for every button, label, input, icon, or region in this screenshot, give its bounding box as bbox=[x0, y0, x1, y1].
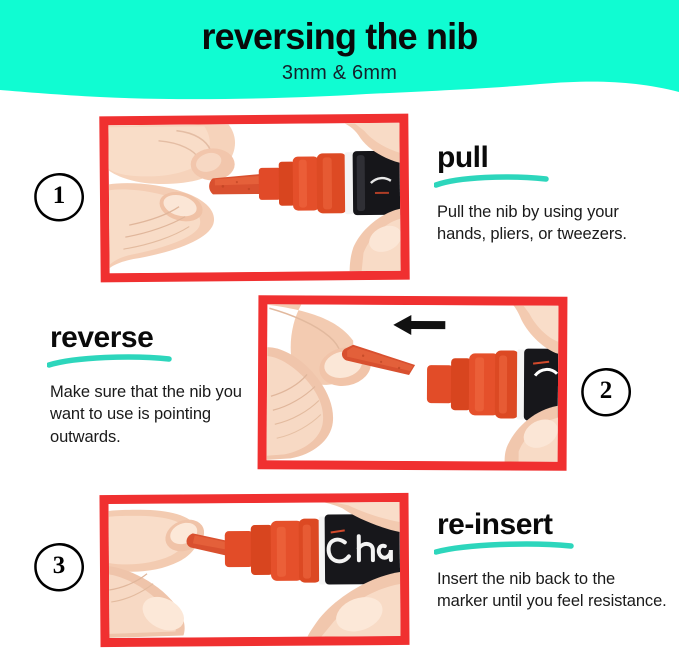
step-number-label-3: 3 bbox=[31, 539, 87, 595]
step-number-badge-3: 3 bbox=[31, 539, 87, 595]
step-heading-2: reverse bbox=[50, 323, 275, 353]
step-text-3: re-insert Insert the nib back to the mar… bbox=[437, 510, 667, 613]
step-number-badge-2: 2 bbox=[578, 364, 634, 420]
step-body-2: Make sure that the nib you want to use i… bbox=[50, 368, 275, 448]
underline-swoosh-icon-2 bbox=[47, 354, 172, 368]
page-title: reversing the nib bbox=[10, 0, 669, 57]
step-number-badge-1: 1 bbox=[31, 169, 87, 225]
step-photo-1 bbox=[99, 114, 409, 283]
underline-swoosh-icon-1 bbox=[434, 174, 549, 188]
step-photo-3 bbox=[99, 493, 409, 647]
photo-illustration-pull bbox=[108, 123, 400, 274]
step-photo-2 bbox=[258, 295, 568, 471]
underline-swoosh-icon-3 bbox=[434, 541, 574, 555]
photo-illustration-reverse bbox=[267, 304, 559, 462]
step-text-1: pull Pull the nib by using your hands, p… bbox=[437, 143, 662, 246]
step-heading-3: re-insert bbox=[437, 510, 667, 540]
step-heading-1: pull bbox=[437, 143, 662, 173]
step-body-3: Insert the nib back to the marker until … bbox=[437, 555, 667, 613]
step-number-label-2: 2 bbox=[578, 364, 634, 420]
header-banner: reversing the nib 3mm & 6mm bbox=[0, 0, 679, 112]
step-body-1: Pull the nib by using your hands, pliers… bbox=[437, 188, 662, 246]
page-subtitle: 3mm & 6mm bbox=[0, 57, 679, 85]
header-text-group: reversing the nib 3mm & 6mm bbox=[0, 0, 679, 85]
step-number-label-1: 1 bbox=[31, 169, 87, 225]
photo-illustration-reinsert bbox=[109, 502, 401, 638]
step-text-2: reverse Make sure that the nib you want … bbox=[50, 323, 275, 448]
